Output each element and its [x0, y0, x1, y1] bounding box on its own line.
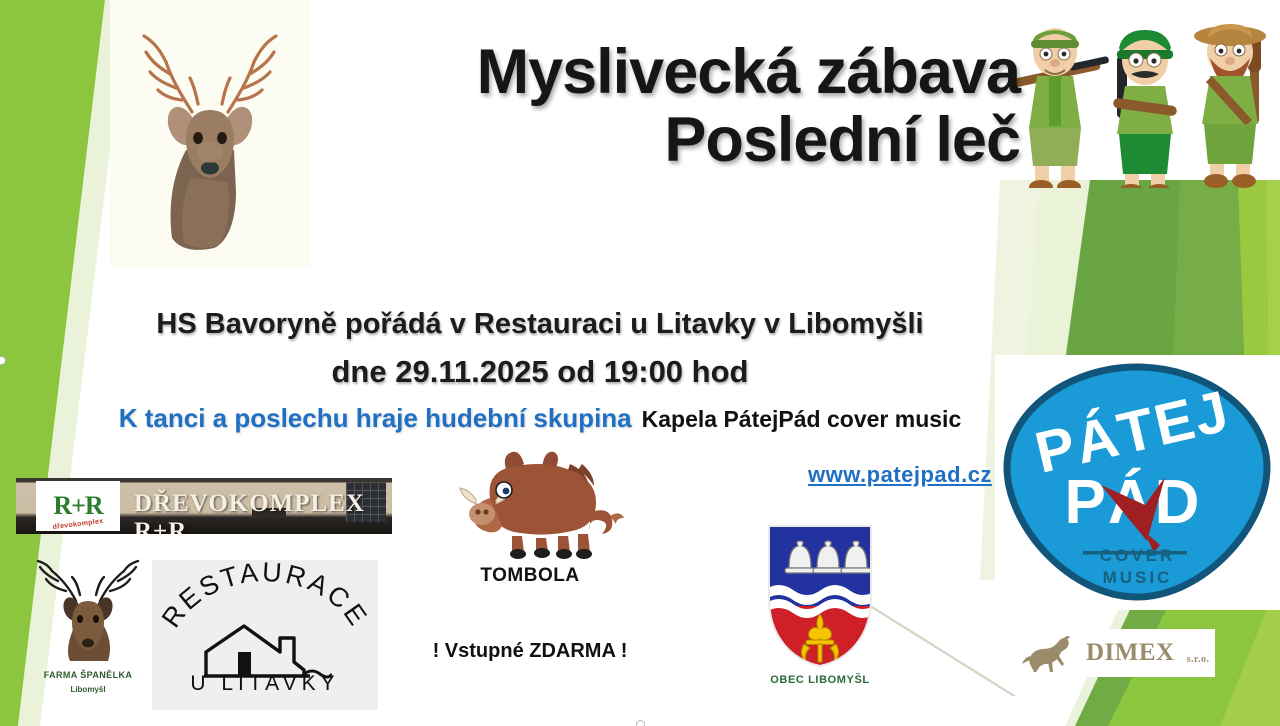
sponsor-obec-libomysl: OBEC LIBOMYŠL [735, 520, 905, 700]
wild-boar-icon [450, 440, 630, 560]
obec-caption: OBEC LIBOMYŠL [735, 674, 905, 686]
coat-of-arms-icon [755, 520, 885, 670]
sponsor-farma-spanelka: FARMA ŠPANĚLKA Libomyšl [28, 555, 148, 715]
band-name-text: Kapela PátejPád cover music [642, 406, 962, 432]
title-line-1: Myslivecká zábava [300, 42, 1020, 104]
dimex-suffix: s.r.o. [1187, 654, 1210, 665]
left-edge-handle[interactable] [0, 356, 6, 365]
drevokomplex-badge-text: R+R [53, 491, 102, 521]
title-line-2: Poslední leč [300, 110, 1020, 172]
drevokomplex-badge: R+R dřevokomplex [36, 481, 120, 531]
farma-name: FARMA ŠPANĚLKA [28, 670, 148, 680]
date-time-line: dne 29.11.2025 od 19:00 hod [70, 354, 1010, 390]
poster-title: Myslivecká zábava Poslední leč [300, 42, 1020, 171]
horse-icon [1022, 634, 1078, 672]
farma-town: Libomyšl [28, 685, 148, 694]
music-line: K tanci a poslechu hraje hudební skupina… [60, 403, 1020, 434]
dimex-name: DIMEX [1086, 639, 1175, 667]
deer-head-icon [110, 0, 310, 268]
deer-photo-panel [110, 0, 310, 268]
sponsor-patejpad: PÁTEJ PÁD COVER MUSIC [995, 355, 1280, 610]
bottom-edge-handle[interactable] [636, 720, 645, 726]
deer-head-icon [28, 555, 148, 663]
organizer-line: HS Bavoryně pořádá v Restauraci u Litavk… [70, 308, 1010, 341]
patejpad-cover-label: COVER [995, 546, 1280, 566]
free-entry-label: ! Vstupné ZDARMA ! [380, 640, 680, 663]
sponsor-restaurace-u-litavky: RESTAURACE U LITAVKY [152, 560, 378, 710]
drevokomplex-name: DŘEVOKOMPLEX R+R [134, 490, 392, 534]
tombola-label: TOMBOLA [400, 565, 660, 587]
hunters-group-icon [1005, 8, 1275, 188]
sponsor-dimex: DIMEX s.r.o. [1010, 629, 1215, 677]
sponsor-drevokomplex: R+R dřevokomplex DŘEVOKOMPLEX R+R [16, 478, 392, 534]
patejpad-music-label: MUSIC [995, 568, 1280, 588]
poster-canvas: Myslivecká zábava Poslední leč HS Bavory… [0, 0, 1280, 726]
restaurace-subtitle: U LITAVKY [152, 672, 378, 696]
music-intro-text: K tanci a poslechu hraje hudební skupina [119, 403, 632, 433]
